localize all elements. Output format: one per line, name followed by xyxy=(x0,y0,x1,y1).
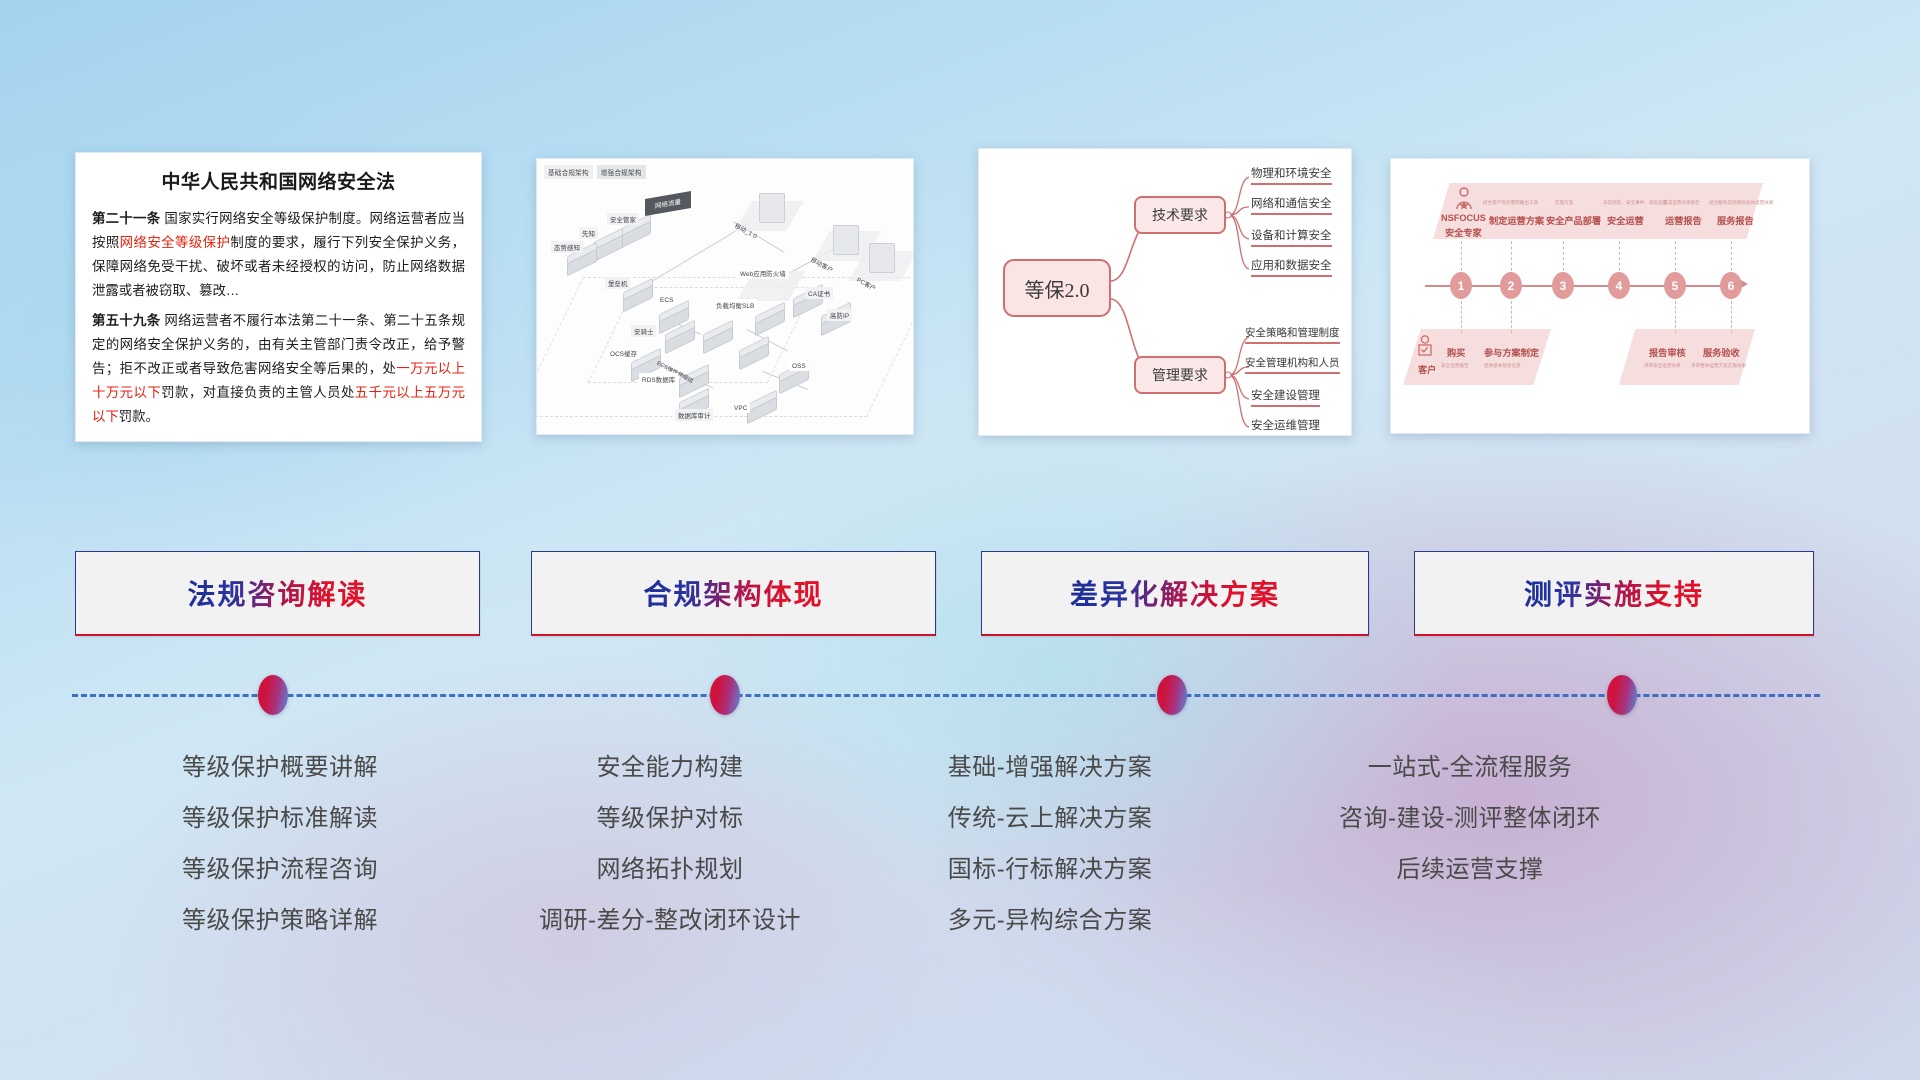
tick-2 xyxy=(1511,241,1512,271)
tick-6 xyxy=(1731,241,1732,271)
headline-label: 合规架构体现 xyxy=(643,573,823,613)
law-title: 中华人民共和国网络安全法 xyxy=(92,167,465,194)
timeline-axis xyxy=(1425,285,1743,287)
mindmap-branch-technical[interactable]: 技术要求 xyxy=(1134,196,1226,234)
step-4-label: 安全运营 xyxy=(1607,213,1644,227)
bottom-step-3-label: 报告审核 xyxy=(1649,345,1686,359)
mindmap-leaf: 安全建设管理 xyxy=(1251,387,1320,407)
feature-item: 多元-异构综合方案 xyxy=(830,895,1270,946)
timeline-dot-2[interactable] xyxy=(710,675,740,715)
card-cybersecurity-law[interactable]: 中华人民共和国网络安全法 第二十一条 国家实行网络安全等级保护制度。网络运营者应… xyxy=(75,152,482,442)
label-bastion: 堡垒机 xyxy=(605,277,630,289)
timeline-dot-1[interactable] xyxy=(258,675,288,715)
tick-5 xyxy=(1675,241,1676,271)
tick-b6 xyxy=(1731,301,1732,333)
tick-b5 xyxy=(1675,301,1676,333)
node-anqishi xyxy=(663,327,697,349)
timeline-arrow xyxy=(1741,280,1748,288)
law-article-label-21: 第二十一条 xyxy=(92,211,160,226)
feature-item: 一站式-全流程服务 xyxy=(1250,742,1690,793)
feature-item: 等级保护标准解读 xyxy=(60,793,500,844)
feature-column-1: 等级保护概要讲解 等级保护标准解读 等级保护流程咨询 等级保护策略详解 xyxy=(60,742,500,946)
headline-box-differentiated-solution[interactable]: 差异化解决方案 xyxy=(981,551,1369,636)
law-article-label-59: 第五十九条 xyxy=(92,313,160,328)
tab-enhanced-arch[interactable]: 增强合规架构 xyxy=(597,165,646,179)
label-rds: RDS数据库 xyxy=(639,373,678,385)
expert-person-icon xyxy=(1453,187,1475,211)
expert-label-line2: 安全专家 xyxy=(1445,225,1482,239)
feature-item: 等级保护概要讲解 xyxy=(60,742,500,793)
bottom-step-2-label: 参与方案制定 xyxy=(1484,345,1539,359)
label-ca-cert: CA证书 xyxy=(805,287,833,299)
feature-column-2: 安全能力构建 等级保护对标 网络拓扑规划 调研-差分-整改闭环设计 xyxy=(450,742,890,946)
feature-item: 后续运营支撑 xyxy=(1250,844,1690,895)
law-paragraph-21: 第二十一条 国家实行网络安全等级保护制度。网络运营者应当按照网络安全等级保护制度… xyxy=(92,207,465,302)
label-anqishi: 安骑士 xyxy=(631,325,656,337)
label-situation-awareness: 态势感知 xyxy=(551,241,583,253)
feature-item: 基础-增强解决方案 xyxy=(830,742,1270,793)
headline-label: 差异化解决方案 xyxy=(1070,573,1280,613)
card-dengbao-mindmap[interactable]: 等保2.0 技术要求 管理要求 物理和环境安全 网络和通信安全 设备和计算安全 … xyxy=(978,148,1352,436)
label-anti-ddos-ip: 高防IP xyxy=(827,309,852,321)
step-6-label: 服务报告 xyxy=(1717,213,1754,227)
headline-box-regulation-consulting[interactable]: 法规咨询解读 xyxy=(75,551,480,636)
mindmap: 等保2.0 技术要求 管理要求 物理和环境安全 网络和通信安全 设备和计算安全 … xyxy=(979,149,1351,435)
step-5-sub: 形成运营效果报告 xyxy=(1663,200,1700,206)
node-ecs-scale-a xyxy=(701,327,735,349)
feature-item: 等级保护流程咨询 xyxy=(60,844,500,895)
headline-label: 法规咨询解读 xyxy=(187,573,367,613)
tick-4 xyxy=(1619,241,1620,271)
step-6-sub: 结合服务范围落地总体运营效果 xyxy=(1709,200,1773,206)
slide-canvas: 中华人民共和国网络安全法 第二十一条 国家实行网络安全等级保护制度。网络运营者应… xyxy=(0,0,1920,1080)
mindmap-leaf: 物理和环境安全 xyxy=(1251,165,1332,185)
step-dot-6[interactable]: 6 xyxy=(1720,272,1742,299)
feature-column-3: 基础-增强解决方案 传统-云上解决方案 国标-行标解决方案 多元-异构综合方案 xyxy=(830,742,1270,946)
customer-label: 客户 xyxy=(1418,362,1436,376)
mindmap-leaf: 设备和计算安全 xyxy=(1251,227,1332,247)
node-ecs-scale-b xyxy=(737,343,771,365)
icon-mobile-client xyxy=(833,225,859,255)
feature-item: 等级保护对标 xyxy=(450,793,890,844)
bottom-step-1-sub: 安全运营报告 xyxy=(1441,363,1469,369)
step-dot-4[interactable]: 4 xyxy=(1608,272,1630,299)
bottom-step-4-label: 服务验收 xyxy=(1703,345,1740,359)
customer-person-icon xyxy=(1415,335,1435,361)
label-ecs: ECS xyxy=(657,295,676,305)
node-slb xyxy=(753,309,787,331)
tick-b1 xyxy=(1461,301,1462,333)
bottom-step-1-label: 购买 xyxy=(1447,345,1465,359)
step-3-sub: 实施方案 xyxy=(1555,200,1573,206)
label-oss: OSS xyxy=(789,361,809,371)
icon-mobile xyxy=(759,193,785,223)
step-3-label: 安全产品部署 xyxy=(1546,213,1601,227)
feature-item: 咨询-建设-测评整体闭环 xyxy=(1250,793,1690,844)
step-dot-5[interactable]: 5 xyxy=(1664,272,1686,299)
step-dot-3[interactable]: 3 xyxy=(1552,272,1574,299)
label-slb: 负载均衡SLB xyxy=(713,299,757,311)
label-network-traffic: 网络流量 xyxy=(645,191,691,216)
tick-3 xyxy=(1563,241,1564,271)
label-db-audit: 数据库审计 xyxy=(675,409,713,421)
law-run-highlight: 网络安全等级保护 xyxy=(120,235,231,250)
step-dot-1[interactable]: 1 xyxy=(1450,272,1472,299)
expert-label-line1: NSFOCUS xyxy=(1441,213,1486,223)
law-paragraph-59: 第五十九条 网络运营者不履行本法第二十一条、第二十五条规定的网络安全保护义务的，… xyxy=(92,309,465,428)
feature-item: 传统-云上解决方案 xyxy=(830,793,1270,844)
mindmap-leaf: 安全运维管理 xyxy=(1251,417,1320,436)
law-run: 罚款，对直接负责的主管人员处 xyxy=(161,385,355,400)
headline-box-compliance-architecture[interactable]: 合规架构体现 xyxy=(531,551,936,636)
band-expert-row xyxy=(1433,183,1763,239)
feature-item: 等级保护策略详解 xyxy=(60,895,500,946)
step-2-sub: 结合客户现状需明确出工具 xyxy=(1483,200,1538,206)
bottom-step-4-sub: 评审整体运营方案实施效果 xyxy=(1691,363,1746,369)
card-nsfocus-timeline[interactable]: NSFOCUS 安全专家 客户 结合客户现状需明确出工具 制定运营方案 实施方案… xyxy=(1390,158,1810,434)
timeline-dashed-line xyxy=(72,694,1820,697)
bottom-step-2-sub: 提供基本现状信息 xyxy=(1484,363,1521,369)
feature-item: 调研-差分-整改闭环设计 xyxy=(450,895,890,946)
icon-pc-client xyxy=(869,243,895,273)
label-ocs-cache: OCS缓存 xyxy=(607,347,640,359)
mindmap-root-node[interactable]: 等保2.0 xyxy=(1003,259,1111,317)
feature-item: 安全能力构建 xyxy=(450,742,890,793)
tick-1 xyxy=(1461,241,1462,271)
step-4-sub: 日常巡检、安全事件、高危处置 xyxy=(1603,200,1667,206)
card-compliance-architecture[interactable]: 基础合规架构 增强合规架构 xyxy=(536,158,914,435)
architecture-diagram: 基础合规架构 增强合规架构 xyxy=(537,159,913,434)
headline-label: 测评实施支持 xyxy=(1524,573,1704,613)
bottom-step-3-sub: 评审安全运营效果 xyxy=(1644,363,1681,369)
feature-item: 国标-行标解决方案 xyxy=(830,844,1270,895)
nsfocus-service-flow: NSFOCUS 安全专家 客户 结合客户现状需明确出工具 制定运营方案 实施方案… xyxy=(1391,159,1809,433)
step-2-label: 制定运营方案 xyxy=(1489,213,1544,227)
label-vpc: VPC xyxy=(731,403,750,413)
mindmap-leaf: 应用和数据安全 xyxy=(1251,257,1332,277)
timeline-dot-4[interactable] xyxy=(1607,675,1637,715)
law-run: 罚款。 xyxy=(119,409,159,424)
label-waf: Web应用防火墙 xyxy=(737,267,789,279)
step-5-label: 运营报告 xyxy=(1665,213,1702,227)
mindmap-leaf: 网络和通信安全 xyxy=(1251,195,1332,215)
mindmap-leaf: 安全策略和管理制度 xyxy=(1245,325,1340,344)
tick-b2 xyxy=(1511,301,1512,333)
headline-box-assessment-support[interactable]: 测评实施支持 xyxy=(1414,551,1814,636)
feature-column-4: 一站式-全流程服务 咨询-建设-测评整体闭环 后续运营支撑 xyxy=(1250,742,1690,895)
architecture-tabs[interactable]: 基础合规架构 增强合规架构 xyxy=(544,165,646,179)
mindmap-branch-management[interactable]: 管理要求 xyxy=(1134,356,1226,394)
feature-item: 网络拓扑规划 xyxy=(450,844,890,895)
tab-basic-arch[interactable]: 基础合规架构 xyxy=(544,165,593,179)
mindmap-leaf: 安全管理机构和人员 xyxy=(1245,355,1340,374)
label-xianzhi: 先知 xyxy=(579,227,598,239)
label-security-housekeeper: 安全管家 xyxy=(607,213,639,225)
step-dot-2[interactable]: 2 xyxy=(1500,272,1522,299)
timeline-dot-3[interactable] xyxy=(1157,675,1187,715)
